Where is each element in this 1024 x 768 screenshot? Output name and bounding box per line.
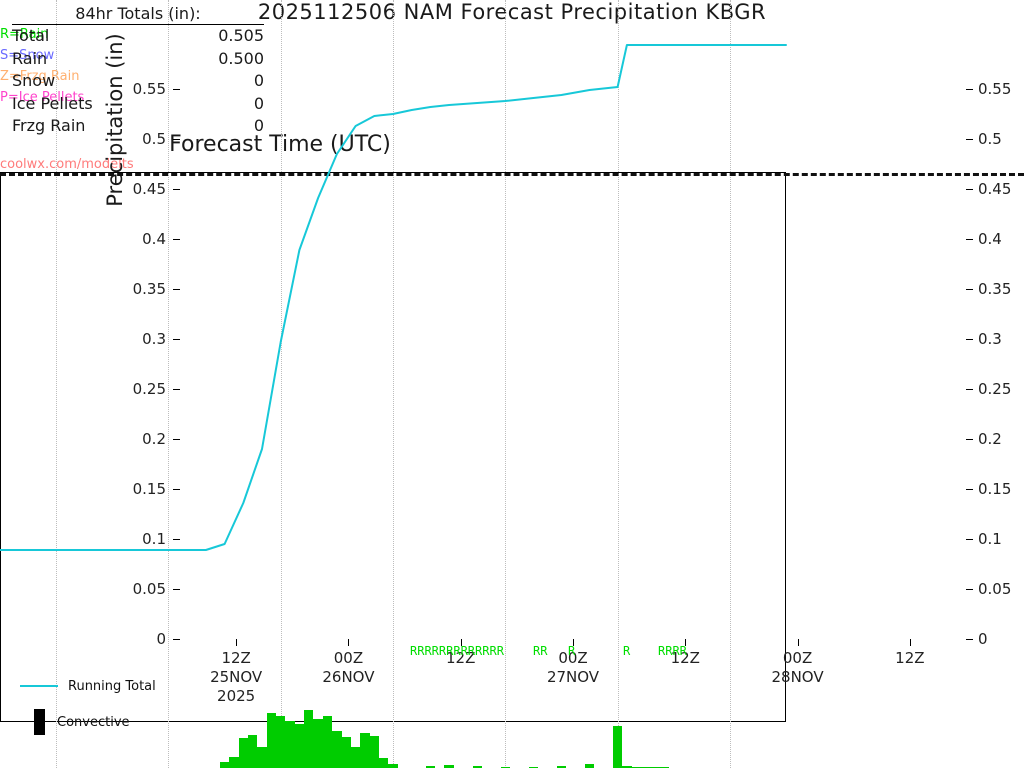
- totals-row: Rain0.500: [12, 48, 264, 71]
- y-tick-right: [966, 239, 973, 240]
- precip-bar: [285, 721, 294, 768]
- totals-row-value: 0.500: [218, 48, 264, 71]
- x-tick-label: 12Z: [865, 649, 955, 668]
- totals-row-label: Rain: [12, 48, 47, 71]
- precip-type-letters: R: [568, 644, 575, 658]
- y-tick-left: [173, 589, 180, 590]
- totals-row-value: 0: [254, 93, 264, 116]
- precip-bar: [239, 738, 248, 768]
- precip-type-letters: RR: [533, 644, 547, 658]
- precip-bar: [370, 736, 379, 768]
- y-tick-right: [966, 189, 973, 190]
- y-tick-right: [966, 289, 973, 290]
- precip-type-letters: RRRR: [658, 644, 687, 658]
- precip-bar: [295, 724, 304, 768]
- y-tick-label-right: 0.45: [978, 180, 1024, 198]
- plot-area: 84hr Totals (in): Total0.505Rain0.500Sno…: [0, 172, 786, 722]
- y-tick-left: [173, 339, 180, 340]
- precip-bar: [351, 747, 360, 768]
- precip-bar: [388, 764, 397, 768]
- y-tick-label-left: 0.25: [120, 380, 166, 398]
- y-tick-label-left: 0: [120, 630, 166, 648]
- x-tick-label: 00Z28NOV: [753, 649, 843, 687]
- y-tick-right: [966, 639, 973, 640]
- x-tick: [236, 639, 237, 646]
- y-tick-label-right: 0.15: [978, 480, 1024, 498]
- precip-bar: [332, 731, 341, 768]
- bar-swatch-icon: [34, 709, 45, 735]
- y-tick-left: [173, 139, 180, 140]
- legend-running-total: Running Total: [8, 668, 156, 704]
- y-tick-right: [966, 489, 973, 490]
- y-tick-label-left: 0.3: [120, 330, 166, 348]
- totals-row-value: 0: [254, 115, 264, 138]
- precip-bar: [267, 713, 276, 768]
- legend-convective-label: Convective: [57, 715, 130, 730]
- totals-row-label: Frzg Rain: [12, 115, 85, 138]
- y-tick-right: [966, 339, 973, 340]
- y-tick-right: [966, 89, 973, 90]
- precip-bar: [276, 716, 285, 768]
- precip-bar: [313, 719, 322, 768]
- y-tick-label-left: 0.35: [120, 280, 166, 298]
- precip-bar: [304, 710, 313, 768]
- precip-bar: [342, 737, 351, 768]
- precip-bar: [323, 716, 332, 768]
- precip-bar: [379, 758, 388, 768]
- bottom-legend: Running Total Convective: [8, 668, 156, 740]
- y-tick-label-right: 0.3: [978, 330, 1024, 348]
- x-tick-line: 27NOV: [528, 668, 618, 687]
- x-tick-label: 00Z26NOV: [303, 649, 393, 687]
- totals-row-label: Snow: [12, 70, 55, 93]
- precip-type-letters: RRRRRRRRRRRRR: [410, 644, 504, 658]
- y-tick-label-left: 0.45: [120, 180, 166, 198]
- y-tick-left: [173, 639, 180, 640]
- y-tick-left: [173, 539, 180, 540]
- precip-bar: [248, 735, 257, 768]
- y-tick-right: [966, 589, 973, 590]
- precip-bar: [613, 726, 622, 768]
- totals-row-value: 0: [254, 70, 264, 93]
- precip-bar: [257, 747, 266, 768]
- x-tick-line: 12Z: [865, 649, 955, 668]
- totals-row-value: 0.505: [218, 25, 264, 48]
- y-tick-label-left: 0.55: [120, 80, 166, 98]
- y-tick-right: [966, 139, 973, 140]
- precip-bar: [229, 757, 238, 768]
- y-tick-label-left: 0.4: [120, 230, 166, 248]
- precip-bar: [220, 762, 229, 768]
- precip-type-letters: R: [623, 644, 630, 658]
- totals-row: Total0.505: [12, 25, 264, 48]
- totals-row-label: Total: [12, 25, 49, 48]
- x-tick-line: 26NOV: [303, 668, 393, 687]
- x-tick: [798, 639, 799, 646]
- y-tick-left: [173, 389, 180, 390]
- y-tick-left: [173, 489, 180, 490]
- y-tick-label-left: 0.1: [120, 530, 166, 548]
- y-tick-label-left: 0.15: [120, 480, 166, 498]
- y-tick-label-right: 0.2: [978, 430, 1024, 448]
- x-tick-line: 28NOV: [753, 668, 843, 687]
- y-tick-label-right: 0.4: [978, 230, 1024, 248]
- precip-bar: [585, 764, 594, 768]
- x-tick-line: 00Z: [753, 649, 843, 668]
- x-tick-line: 00Z: [303, 649, 393, 668]
- y-tick-label-right: 0.05: [978, 580, 1024, 598]
- x-tick-line: 2025: [191, 687, 281, 706]
- y-tick-label-right: 0.5: [978, 130, 1024, 148]
- totals-header: 84hr Totals (in):: [12, 4, 264, 25]
- y-tick-label-right: 0.35: [978, 280, 1024, 298]
- y-tick-right: [966, 389, 973, 390]
- x-tick-label: 12Z25NOV2025: [191, 649, 281, 706]
- totals-box: 84hr Totals (in): Total0.505Rain0.500Sno…: [12, 4, 264, 138]
- y-tick-left: [173, 239, 180, 240]
- x-tick: [348, 639, 349, 646]
- y-tick-left: [173, 289, 180, 290]
- y-tick-label-left: 0.5: [120, 130, 166, 148]
- line-swatch-icon: [20, 685, 58, 687]
- y-tick-right: [966, 439, 973, 440]
- y-tick-left: [173, 189, 180, 190]
- y-tick-label-left: 0.2: [120, 430, 166, 448]
- y-tick-left: [173, 439, 180, 440]
- y-tick-label-right: 0.1: [978, 530, 1024, 548]
- y-tick-label-left: 0.05: [120, 580, 166, 598]
- totals-row-label: Ice Pellets: [12, 93, 93, 116]
- x-tick-line: 25NOV: [191, 668, 281, 687]
- precip-bar: [360, 733, 369, 768]
- y-tick-left: [173, 89, 180, 90]
- y-tick-right: [966, 539, 973, 540]
- x-tick: [910, 639, 911, 646]
- y-tick-label-right: 0.55: [978, 80, 1024, 98]
- y-tick-label-right: 0: [978, 630, 1024, 648]
- legend-running-total-label: Running Total: [68, 679, 156, 694]
- legend-convective: Convective: [8, 704, 156, 740]
- x-tick-line: 12Z: [191, 649, 281, 668]
- y-tick-label-right: 0.25: [978, 380, 1024, 398]
